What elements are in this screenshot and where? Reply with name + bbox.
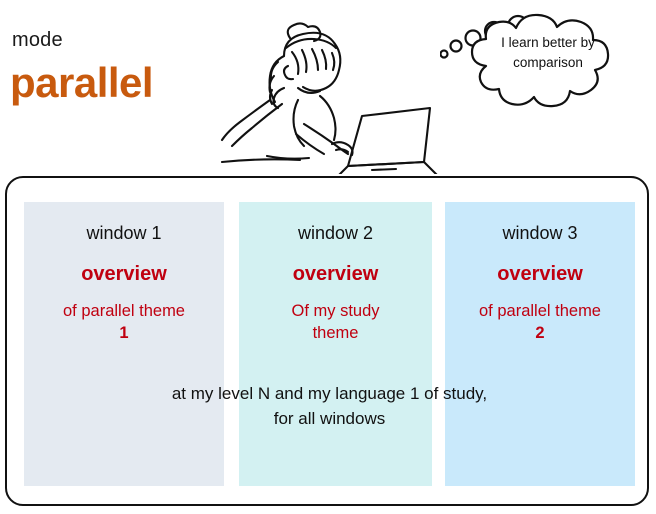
window-panel-1[interactable]: window 1 overview of parallel theme 1 — [24, 202, 224, 486]
mode-value: parallel — [10, 62, 153, 104]
overview-description-3: of parallel theme 2 — [445, 300, 635, 345]
windows-frame: window 1 overview of parallel theme 1 wi… — [5, 176, 649, 506]
window-title-1: window 1 — [24, 224, 224, 242]
window-title-3: window 3 — [445, 224, 635, 242]
header-region: mode parallel — [0, 0, 656, 176]
overview-desc-line-3: of parallel theme — [479, 302, 601, 320]
overview-desc-number-3: 2 — [445, 322, 635, 344]
overview-desc-line-1: of parallel theme — [63, 302, 185, 320]
overview-desc-number-2: theme — [239, 322, 432, 344]
person-studying-at-laptop-icon — [212, 4, 442, 174]
overview-label-3: overview — [445, 264, 635, 284]
window-title-2: window 2 — [239, 224, 432, 242]
overview-label-1: overview — [24, 264, 224, 284]
overview-label-2: overview — [239, 264, 432, 284]
thought-bubble-text: I learn better by comparison — [472, 33, 624, 72]
window-panel-3[interactable]: window 3 overview of parallel theme 2 — [445, 202, 635, 486]
mode-label: mode — [12, 30, 63, 50]
overview-desc-number-1: 1 — [24, 322, 224, 344]
overview-description-1: of parallel theme 1 — [24, 300, 224, 345]
overview-desc-line-2: Of my study — [291, 302, 379, 320]
window-panel-2[interactable]: window 2 overview Of my study theme — [239, 202, 432, 486]
overview-description-2: Of my study theme — [239, 300, 432, 345]
